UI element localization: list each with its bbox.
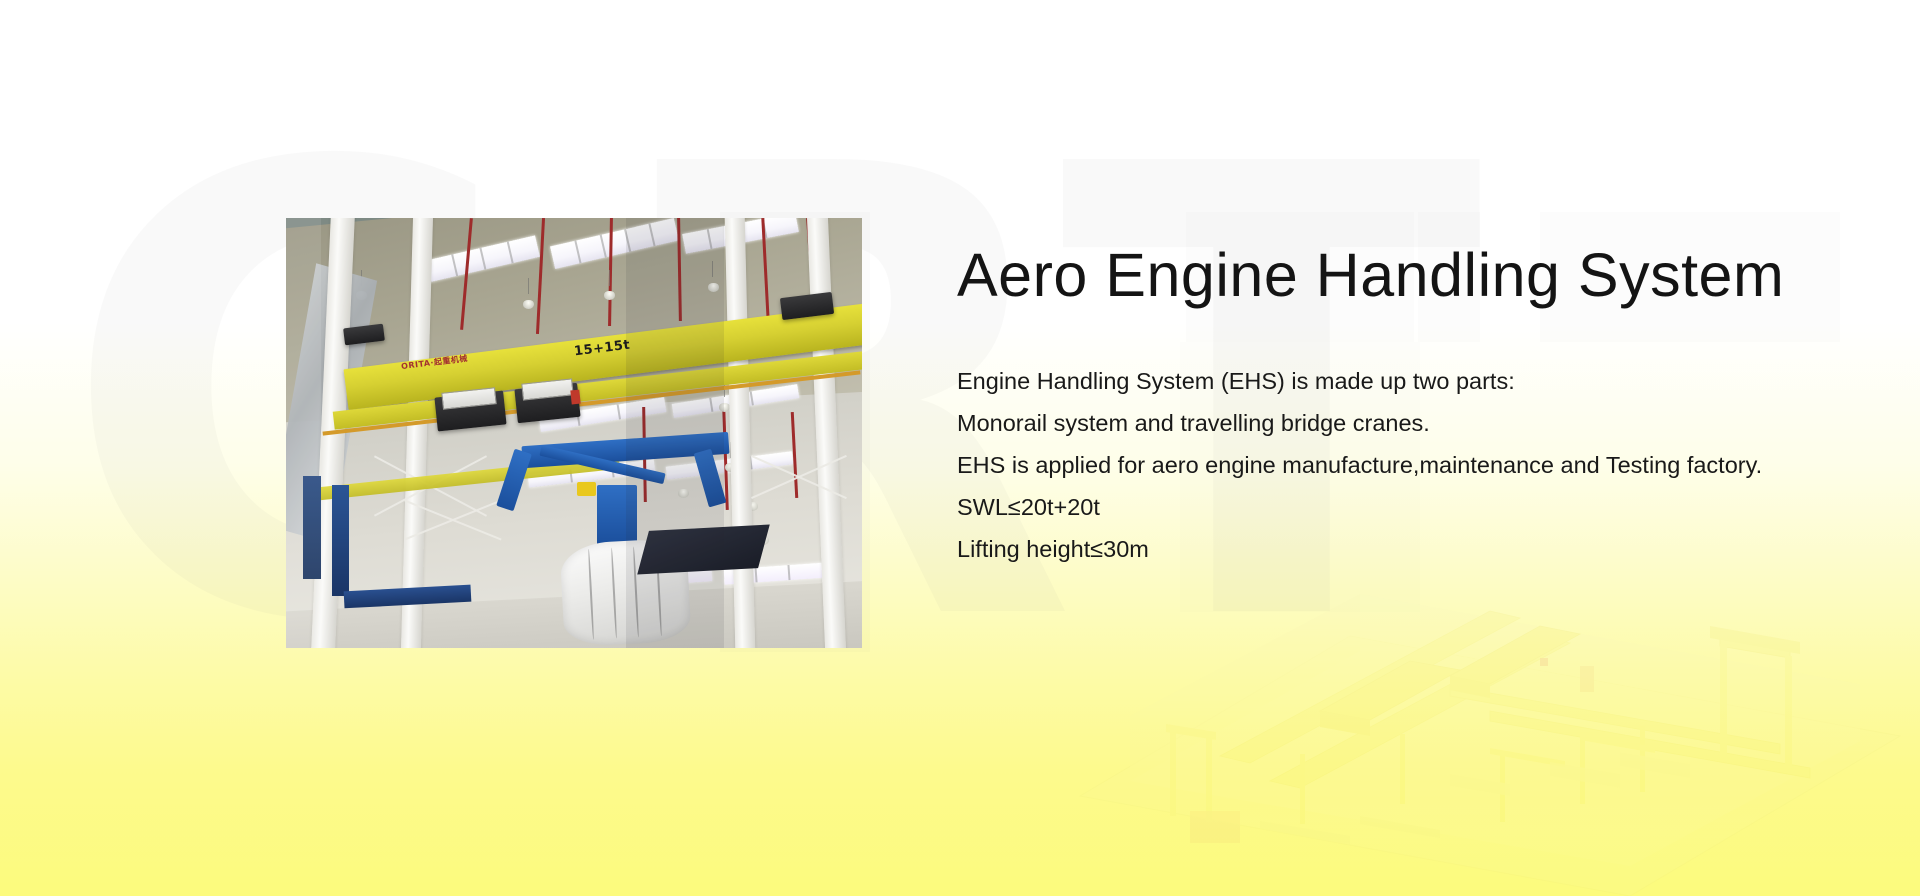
isometric-factory-svg (1020, 566, 1920, 896)
spec-line-swl: SWL≤20t+20t (957, 486, 1857, 528)
lamp-stem (528, 278, 529, 294)
lamp-stem (609, 270, 610, 286)
factory-photo: 15+15t ORITA·起重机械 (286, 218, 862, 648)
description-line: Monorail system and travelling bridge cr… (957, 402, 1857, 444)
spec-line-lifting-height: Lifting height≤30m (957, 528, 1857, 570)
hoist-indicator (570, 390, 581, 405)
ceiling-lamp (678, 489, 689, 498)
engine-pylon-fairing (637, 524, 769, 574)
lifting-frame-control (577, 482, 597, 496)
ceiling-lamp (604, 291, 615, 300)
slide-canvas: C R T (0, 0, 1920, 896)
ceiling-lamp (523, 300, 534, 309)
description-line: Engine Handling System (EHS) is made up … (957, 360, 1857, 402)
lifting-frame-column (597, 485, 637, 545)
secondary-lifting-frame (332, 485, 349, 597)
page-title: Aero Engine Handling System (957, 243, 1784, 307)
lamp-stem (712, 261, 713, 277)
photo-scene: 15+15t ORITA·起重机械 (286, 218, 862, 648)
ceiling-lamp (708, 283, 719, 292)
secondary-lifting-frame (303, 476, 320, 579)
description-line: EHS is applied for aero engine manufactu… (957, 444, 1857, 486)
isometric-factory-illustration (1020, 566, 1920, 896)
description-block: Engine Handling System (EHS) is made up … (957, 360, 1857, 570)
